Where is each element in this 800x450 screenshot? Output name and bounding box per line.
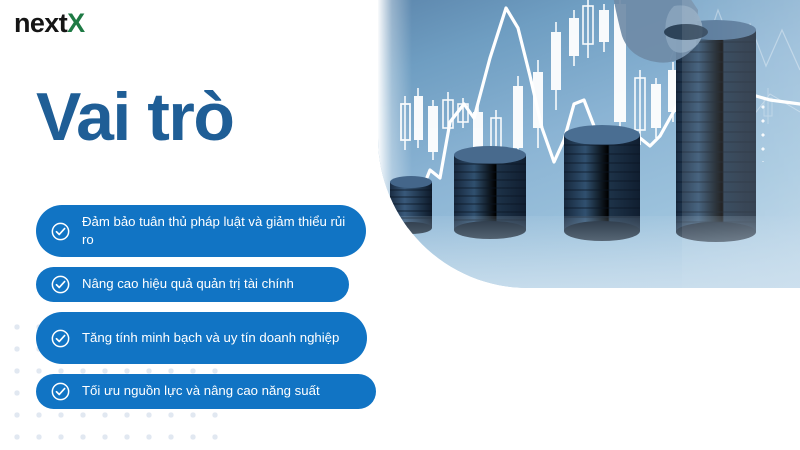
circle-check-icon — [50, 328, 71, 349]
dot-grid-bottom-right-icon — [708, 378, 800, 450]
list-item-label: Nâng cao hiệu quả quản trị tài chính — [82, 275, 294, 293]
hero-image — [378, 0, 800, 288]
list-item-label: Đảm bảo tuân thủ pháp luật và giảm thiểu… — [82, 213, 348, 249]
list-item[interactable]: Tối ưu nguồn lực và nâng cao năng suất — [36, 374, 376, 409]
list-item[interactable]: Đảm bảo tuân thủ pháp luật và giảm thiểu… — [36, 205, 366, 257]
brand-logo-primary: next — [14, 8, 67, 38]
bullet-list: Đảm bảo tuân thủ pháp luật và giảm thiểu… — [36, 205, 366, 409]
list-item[interactable]: Nâng cao hiệu quả quản trị tài chính — [36, 267, 349, 302]
slide-canvas: nextX Vai trò Đảm bảo tuân thủ pháp luật… — [0, 0, 800, 450]
brand-logo[interactable]: nextX — [14, 10, 85, 37]
circle-check-icon — [50, 221, 71, 242]
circle-check-icon — [50, 274, 71, 295]
list-item[interactable]: Tăng tính minh bạch và uy tín doanh nghi… — [36, 312, 367, 364]
list-item-label: Tối ưu nguồn lực và nâng cao năng suất — [82, 382, 320, 400]
brand-logo-accent: X — [67, 8, 84, 38]
page-title: Vai trò — [36, 82, 233, 153]
list-item-label: Tăng tính minh bạch và uy tín doanh nghi… — [82, 329, 339, 347]
hero-image-floor — [378, 216, 800, 288]
circle-check-icon — [50, 381, 71, 402]
